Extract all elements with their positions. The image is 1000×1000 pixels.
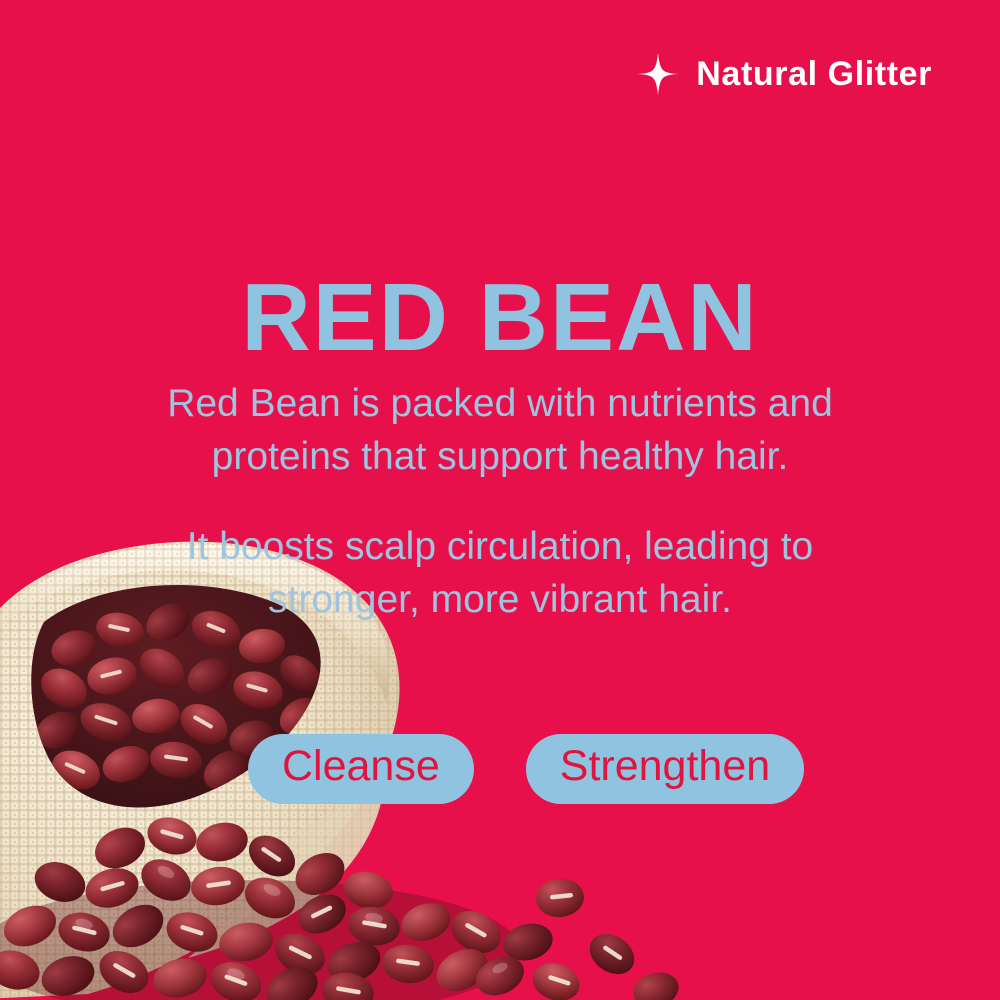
benefit-tag-cleanse[interactable]: Cleanse [248,734,474,804]
brand-name: Natural Glitter [696,57,932,91]
sparkle-star-icon [636,52,680,96]
description-block: Red Bean is packed with nutrients and pr… [110,378,890,627]
product-ingredient-poster: Natural Glitter RED BEAN Red Bean is pac… [0,0,1000,1000]
description-paragraph-2: It boosts scalp circulation, leading to … [110,521,890,626]
description-paragraph-1: Red Bean is packed with nutrients and pr… [110,378,890,483]
brand-logo: Natural Glitter [636,52,932,96]
benefit-tag-strengthen[interactable]: Strengthen [526,734,804,804]
page-title: RED BEAN [0,268,1000,369]
benefit-tag-list: Cleanse Strengthen [248,734,804,804]
